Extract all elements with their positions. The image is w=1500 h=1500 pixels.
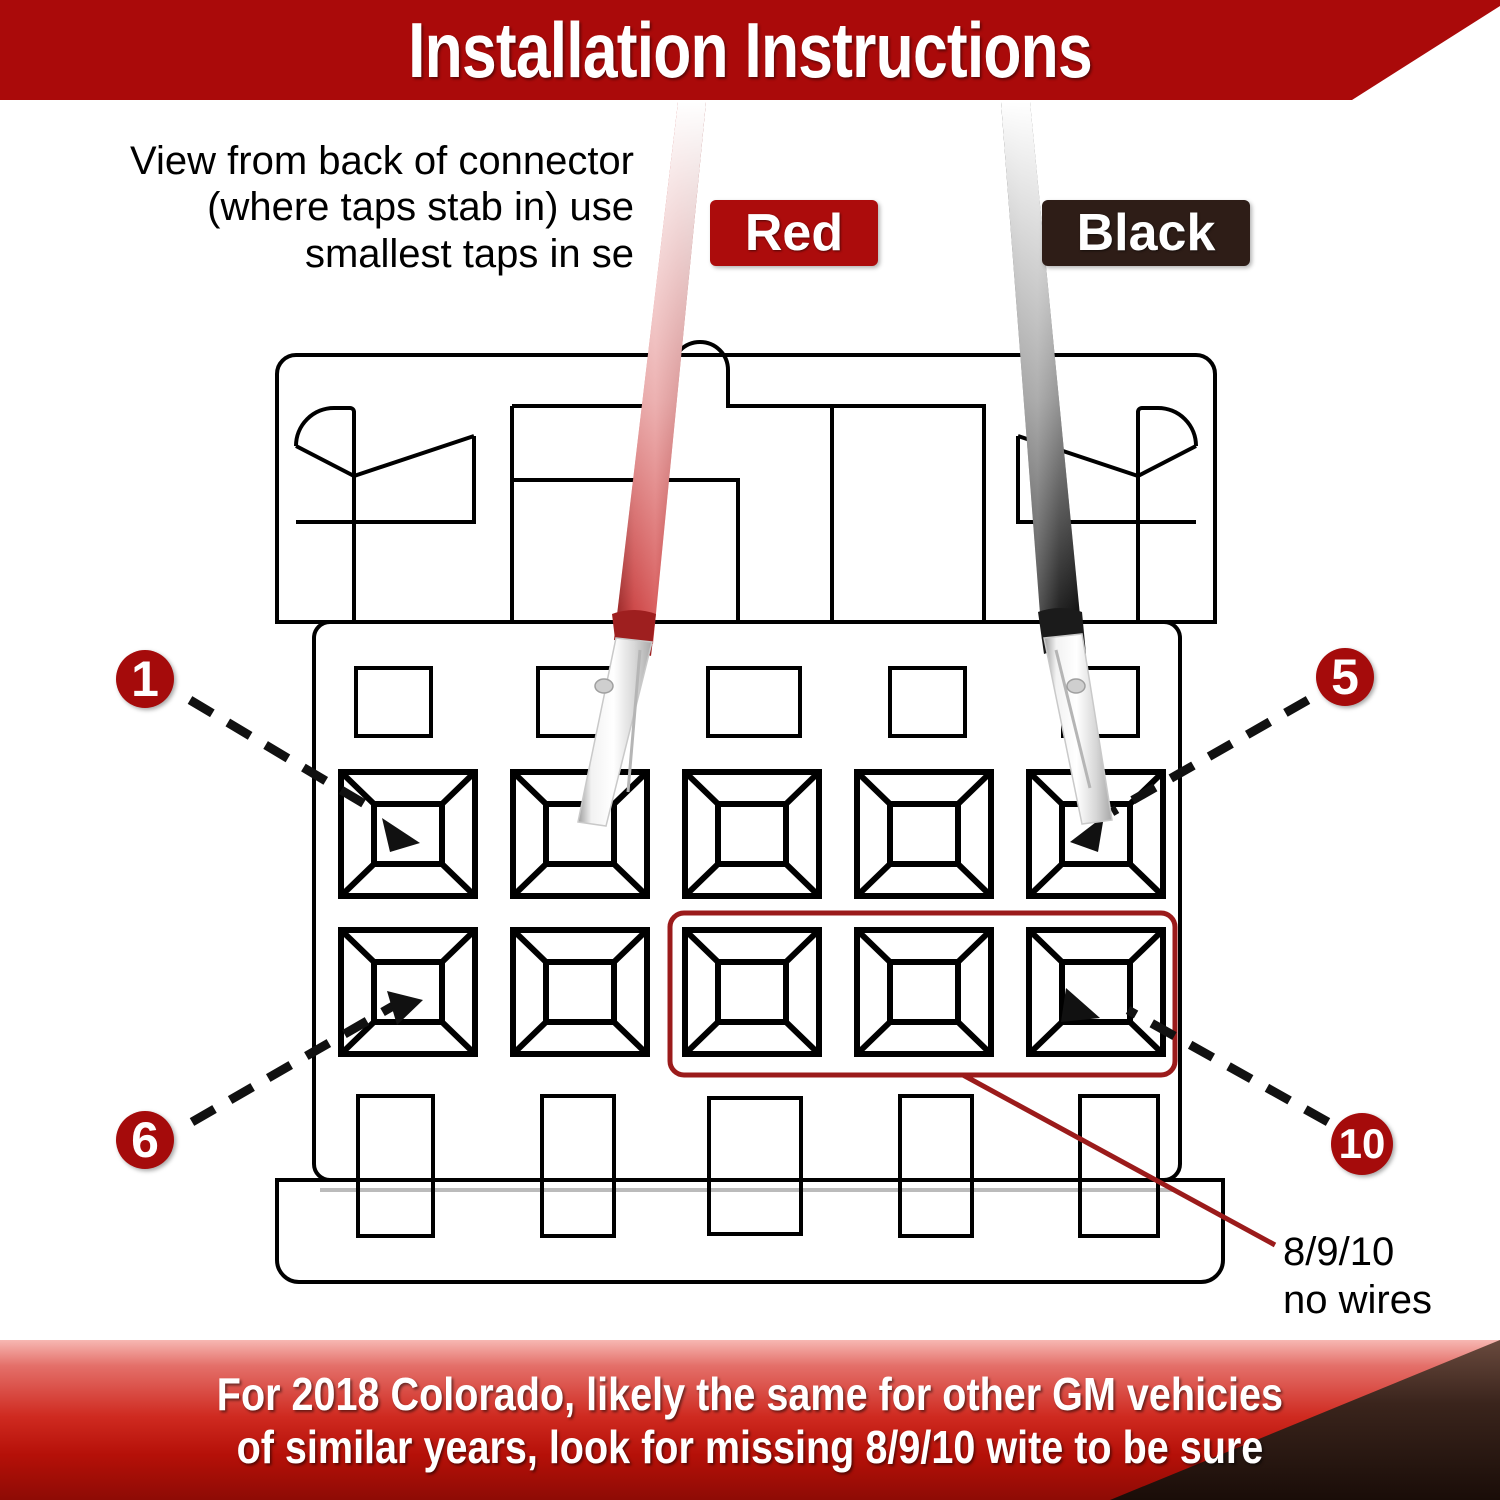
red-terminal-dimple: [595, 679, 613, 693]
footer-line-1: For 2018 Colorado, likely the same for o…: [217, 1368, 1283, 1421]
callout-badge-10[interactable]: 10: [1331, 1113, 1393, 1175]
footer-banner: For 2018 Colorado, likely the same for o…: [0, 1340, 1500, 1500]
black-wire-fade: [1001, 102, 1082, 640]
callout-badge-5[interactable]: 5: [1316, 648, 1374, 706]
footer-line-2: of similar years, look for missing 8/9/1…: [237, 1421, 1264, 1474]
footer-text: For 2018 Colorado, likely the same for o…: [0, 1346, 1500, 1496]
black-wire-label: Black: [1042, 200, 1250, 266]
red-wire-fade: [614, 102, 706, 644]
black-terminal-dimple: [1067, 679, 1085, 693]
red-wire-label: Red: [710, 200, 878, 266]
no-wire-note-line-2: no wires: [1283, 1276, 1432, 1324]
callout-badge-1[interactable]: 1: [116, 650, 174, 708]
no-wire-note-line-1: 8/9/10: [1283, 1228, 1432, 1276]
instruction-diagram-page: Installation Instructions View from back…: [0, 0, 1500, 1500]
no-wire-note: 8/9/10 no wires: [1283, 1228, 1432, 1324]
callout-badge-6[interactable]: 6: [116, 1111, 174, 1169]
